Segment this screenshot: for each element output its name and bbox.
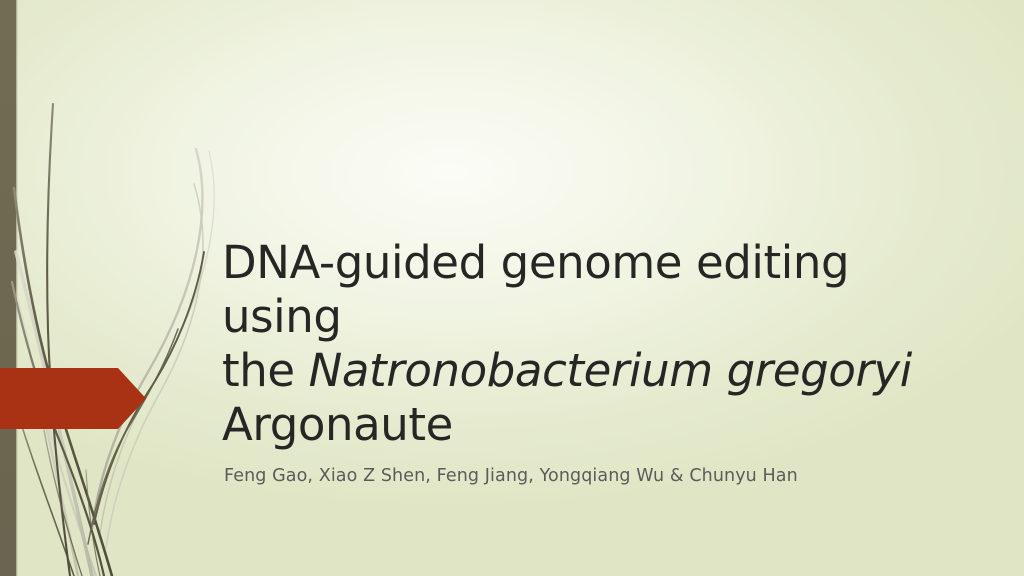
title-species-name: Natronobacterium gregoryi [309,344,912,397]
presentation-slide: DNA-guided genome editing using the Natr… [0,0,1024,576]
red-arrow-banner [0,368,146,429]
title-line-1: DNA-guided genome editing using [222,236,863,343]
page-title: DNA-guided genome editing using the Natr… [222,236,982,452]
title-line-3: Argonaute [222,398,453,451]
title-line-2-prefix: the [222,344,309,397]
olive-vertical-strip [0,0,16,576]
slide-text-block: DNA-guided genome editing using the Natr… [222,236,982,488]
slide-subtitle-authors: Feng Gao, Xiao Z Shen, Feng Jiang, Yongq… [224,464,982,488]
olive-strip-shadow [16,0,18,576]
